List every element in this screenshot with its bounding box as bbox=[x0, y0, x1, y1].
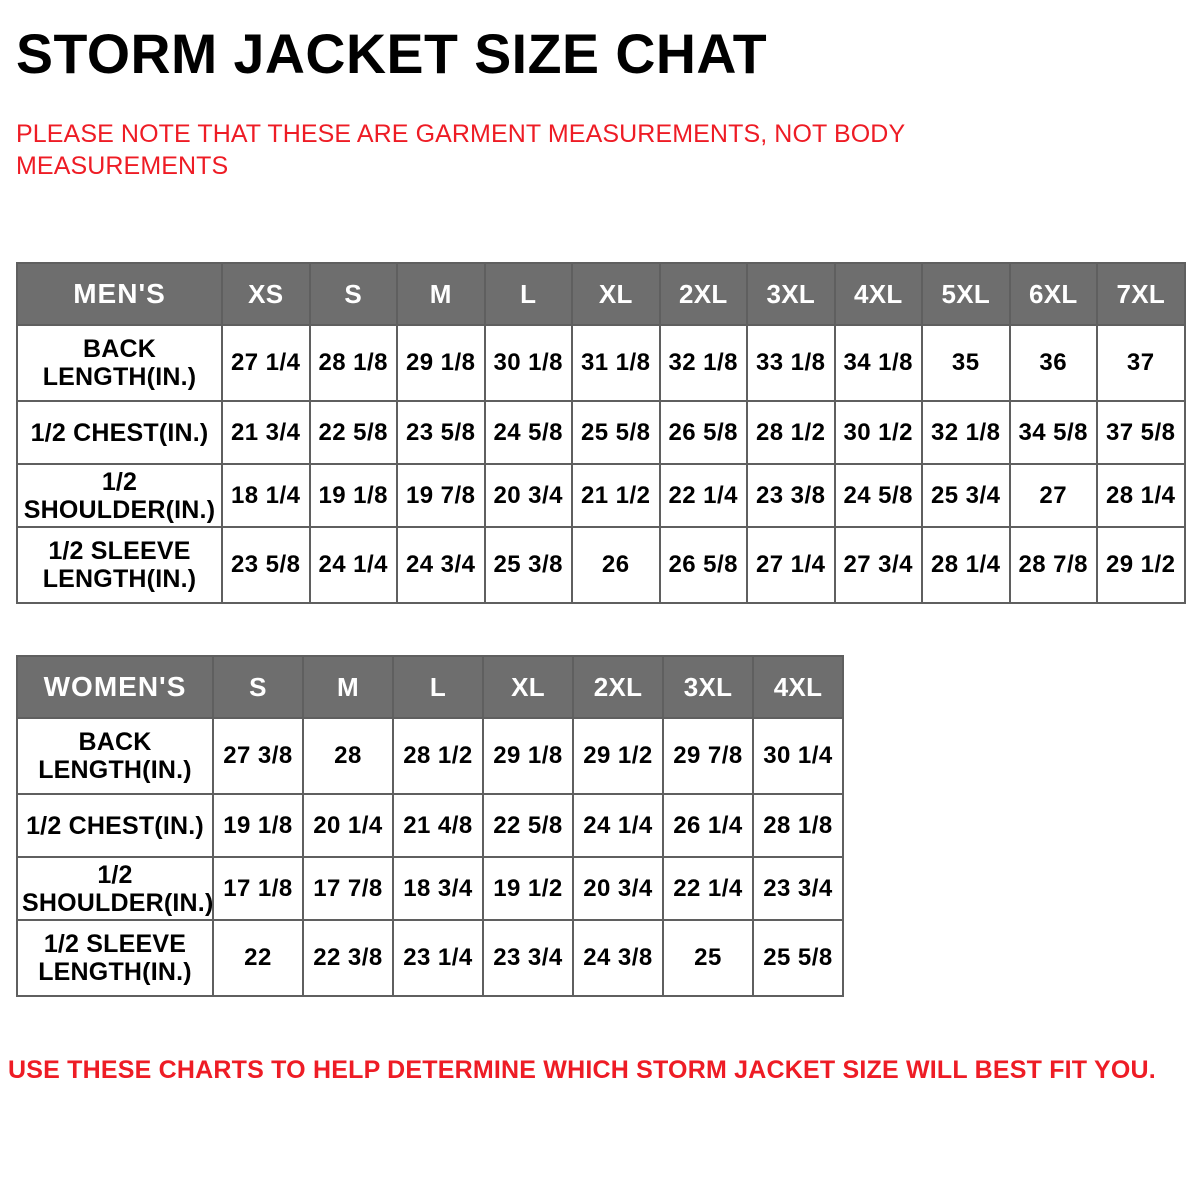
table-cell: 35 bbox=[922, 325, 1010, 401]
table-cell: 221/4 bbox=[660, 464, 748, 527]
mens-corner-label: MEN'S bbox=[17, 263, 222, 325]
table-cell: 311/8 bbox=[572, 325, 660, 401]
table-row: 1/2 SHOULDER(IN.) 171/8 177/8 183/4 191/… bbox=[17, 857, 843, 920]
table-cell: 301/8 bbox=[485, 325, 573, 401]
mens-col-header-5xl: 5XL bbox=[922, 263, 1010, 325]
womens-row-label-half-sleeve-length: 1/2 SLEEVELENGTH(IN.) bbox=[17, 920, 213, 996]
table-cell: 331/8 bbox=[747, 325, 835, 401]
mens-size-table: MEN'S XS S M L XL 2XL 3XL 4XL 5XL 6XL 7X… bbox=[16, 262, 1186, 604]
page-title: STORM JACKET SIZE CHAT bbox=[16, 26, 767, 82]
table-cell: 273/8 bbox=[213, 718, 303, 794]
mens-size-table-container: MEN'S XS S M L XL 2XL 3XL 4XL 5XL 6XL 7X… bbox=[16, 262, 1184, 604]
table-cell: 245/8 bbox=[835, 464, 923, 527]
table-cell: 171/8 bbox=[213, 857, 303, 920]
mens-col-header-m: M bbox=[397, 263, 485, 325]
table-cell: 214/8 bbox=[393, 794, 483, 857]
table-cell: 291/8 bbox=[483, 718, 573, 794]
mens-col-header-3xl: 3XL bbox=[747, 263, 835, 325]
table-cell: 321/8 bbox=[660, 325, 748, 401]
table-cell: 25 bbox=[663, 920, 753, 996]
womens-size-table-container: WOMEN'S S M L XL 2XL 3XL 4XL BACKLENGTH(… bbox=[16, 655, 844, 997]
womens-row-label-back-length: BACKLENGTH(IN.) bbox=[17, 718, 213, 794]
table-cell: 281/4 bbox=[922, 527, 1010, 603]
table-cell: 273/4 bbox=[835, 527, 923, 603]
table-cell: 221/4 bbox=[663, 857, 753, 920]
womens-col-header-4xl: 4XL bbox=[753, 656, 843, 718]
table-cell: 375/8 bbox=[1097, 401, 1185, 464]
table-cell: 233/8 bbox=[747, 464, 835, 527]
table-cell: 281/2 bbox=[393, 718, 483, 794]
table-cell: 27 bbox=[1010, 464, 1098, 527]
mens-table-body: BACKLENGTH(IN.) 271/4 281/8 291/8 301/8 … bbox=[17, 325, 1185, 603]
table-cell: 245/8 bbox=[485, 401, 573, 464]
table-row: 1/2 SHOULDER(IN.) 181/4 191/8 197/8 203/… bbox=[17, 464, 1185, 527]
table-cell: 253/4 bbox=[922, 464, 1010, 527]
table-cell: 203/4 bbox=[573, 857, 663, 920]
table-cell: 297/8 bbox=[663, 718, 753, 794]
table-row: 1/2 SLEEVELENGTH(IN.) 235/8 241/4 243/4 … bbox=[17, 527, 1185, 603]
mens-row-label-half-chest: 1/2 CHEST(IN.) bbox=[17, 401, 222, 464]
table-cell: 211/2 bbox=[572, 464, 660, 527]
table-cell: 265/8 bbox=[660, 527, 748, 603]
table-cell: 301/2 bbox=[835, 401, 923, 464]
mens-col-header-7xl: 7XL bbox=[1097, 263, 1185, 325]
mens-table-head: MEN'S XS S M L XL 2XL 3XL 4XL 5XL 6XL 7X… bbox=[17, 263, 1185, 325]
table-cell: 28 bbox=[303, 718, 393, 794]
table-cell: 301/4 bbox=[753, 718, 843, 794]
table-cell: 191/8 bbox=[213, 794, 303, 857]
mens-row-label-back-length: BACKLENGTH(IN.) bbox=[17, 325, 222, 401]
table-cell: 183/4 bbox=[393, 857, 483, 920]
womens-corner-label: WOMEN'S bbox=[17, 656, 213, 718]
table-row: 1/2 CHEST(IN.) 213/4 225/8 235/8 245/8 2… bbox=[17, 401, 1185, 464]
table-cell: 22 bbox=[213, 920, 303, 996]
table-cell: 241/4 bbox=[310, 527, 398, 603]
womens-size-table: WOMEN'S S M L XL 2XL 3XL 4XL BACKLENGTH(… bbox=[16, 655, 844, 997]
table-cell: 26 bbox=[572, 527, 660, 603]
table-row: BACKLENGTH(IN.) 271/4 281/8 291/8 301/8 … bbox=[17, 325, 1185, 401]
womens-header-row: WOMEN'S S M L XL 2XL 3XL 4XL bbox=[17, 656, 843, 718]
table-cell: 253/8 bbox=[485, 527, 573, 603]
table-row: 1/2 SLEEVELENGTH(IN.) 22 223/8 231/4 233… bbox=[17, 920, 843, 996]
table-cell: 241/4 bbox=[573, 794, 663, 857]
table-cell: 225/8 bbox=[483, 794, 573, 857]
table-cell: 281/2 bbox=[747, 401, 835, 464]
womens-row-label-half-shoulder: 1/2 SHOULDER(IN.) bbox=[17, 857, 213, 920]
womens-table-body: BACKLENGTH(IN.) 273/8 28 281/2 291/8 291… bbox=[17, 718, 843, 996]
mens-header-row: MEN'S XS S M L XL 2XL 3XL 4XL 5XL 6XL 7X… bbox=[17, 263, 1185, 325]
table-cell: 233/4 bbox=[753, 857, 843, 920]
table-cell: 231/4 bbox=[393, 920, 483, 996]
table-cell: 281/8 bbox=[310, 325, 398, 401]
table-cell: 271/4 bbox=[222, 325, 310, 401]
table-cell: 243/8 bbox=[573, 920, 663, 996]
table-cell: 271/4 bbox=[747, 527, 835, 603]
table-cell: 291/8 bbox=[397, 325, 485, 401]
womens-col-header-3xl: 3XL bbox=[663, 656, 753, 718]
mens-col-header-s: S bbox=[310, 263, 398, 325]
table-cell: 225/8 bbox=[310, 401, 398, 464]
table-cell: 223/8 bbox=[303, 920, 393, 996]
table-cell: 177/8 bbox=[303, 857, 393, 920]
table-cell: 233/4 bbox=[483, 920, 573, 996]
table-cell: 287/8 bbox=[1010, 527, 1098, 603]
womens-col-header-2xl: 2XL bbox=[573, 656, 663, 718]
mens-col-header-xs: XS bbox=[222, 263, 310, 325]
table-cell: 197/8 bbox=[397, 464, 485, 527]
womens-col-header-m: M bbox=[303, 656, 393, 718]
mens-col-header-2xl: 2XL bbox=[660, 263, 748, 325]
mens-col-header-6xl: 6XL bbox=[1010, 263, 1098, 325]
table-cell: 181/4 bbox=[222, 464, 310, 527]
mens-col-header-4xl: 4XL bbox=[835, 263, 923, 325]
table-row: 1/2 CHEST(IN.) 191/8 201/4 214/8 225/8 2… bbox=[17, 794, 843, 857]
table-cell: 191/2 bbox=[483, 857, 573, 920]
table-cell: 291/2 bbox=[573, 718, 663, 794]
table-cell: 281/4 bbox=[1097, 464, 1185, 527]
table-cell: 255/8 bbox=[572, 401, 660, 464]
table-cell: 255/8 bbox=[753, 920, 843, 996]
table-cell: 341/8 bbox=[835, 325, 923, 401]
mens-row-label-half-sleeve-length: 1/2 SLEEVELENGTH(IN.) bbox=[17, 527, 222, 603]
table-cell: 265/8 bbox=[660, 401, 748, 464]
table-cell: 235/8 bbox=[397, 401, 485, 464]
table-cell: 261/4 bbox=[663, 794, 753, 857]
table-row: BACKLENGTH(IN.) 273/8 28 281/2 291/8 291… bbox=[17, 718, 843, 794]
table-cell: 235/8 bbox=[222, 527, 310, 603]
womens-col-header-xl: XL bbox=[483, 656, 573, 718]
size-chart-page: STORM JACKET SIZE CHAT PLEASE NOTE THAT … bbox=[0, 0, 1200, 1200]
table-cell: 281/8 bbox=[753, 794, 843, 857]
garment-measurement-note: PLEASE NOTE THAT THESE ARE GARMENT MEASU… bbox=[16, 118, 976, 182]
mens-row-label-half-shoulder: 1/2 SHOULDER(IN.) bbox=[17, 464, 222, 527]
womens-table-head: WOMEN'S S M L XL 2XL 3XL 4XL bbox=[17, 656, 843, 718]
mens-col-header-l: L bbox=[485, 263, 573, 325]
table-cell: 203/4 bbox=[485, 464, 573, 527]
table-cell: 243/4 bbox=[397, 527, 485, 603]
table-cell: 345/8 bbox=[1010, 401, 1098, 464]
table-cell: 213/4 bbox=[222, 401, 310, 464]
fit-guidance-note: USE THESE CHARTS TO HELP DETERMINE WHICH… bbox=[8, 1056, 1188, 1085]
womens-row-label-half-chest: 1/2 CHEST(IN.) bbox=[17, 794, 213, 857]
table-cell: 36 bbox=[1010, 325, 1098, 401]
womens-col-header-l: L bbox=[393, 656, 483, 718]
table-cell: 321/8 bbox=[922, 401, 1010, 464]
table-cell: 37 bbox=[1097, 325, 1185, 401]
mens-col-header-xl: XL bbox=[572, 263, 660, 325]
table-cell: 191/8 bbox=[310, 464, 398, 527]
womens-col-header-s: S bbox=[213, 656, 303, 718]
table-cell: 201/4 bbox=[303, 794, 393, 857]
table-cell: 291/2 bbox=[1097, 527, 1185, 603]
